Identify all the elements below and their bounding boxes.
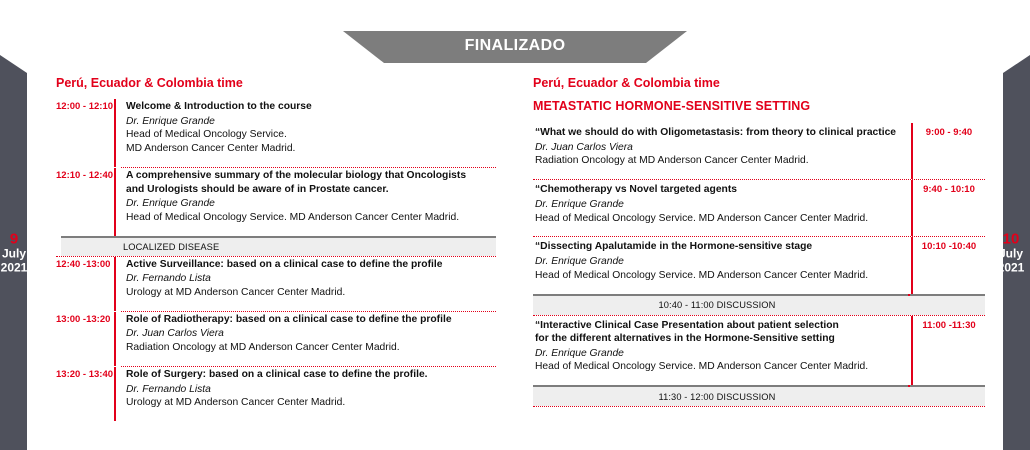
timeline-bar-segment (908, 385, 910, 387)
session-title: “Interactive Clinical Case Presentation … (535, 319, 901, 333)
session-time: 10:10 -10:40 (913, 237, 985, 252)
date-tab-day1-month: July (0, 247, 37, 261)
date-tab-day1-year: 2021 (0, 261, 37, 275)
agenda-row: 12:10 - 12:40 A comprehensive summary of… (56, 168, 496, 236)
date-tab-day1-inner: 9 July 2021 (0, 230, 37, 275)
session-speaker: Dr. Enrique Grande (535, 347, 901, 361)
session-speaker: Dr. Fernando Lista (126, 272, 496, 286)
session-body: A comprehensive summary of the molecular… (116, 168, 496, 236)
session-affiliation: Head of Medical Oncology Service. MD And… (126, 211, 496, 225)
row-divider (533, 406, 985, 407)
session-affiliation: Radiation Oncology at MD Anderson Cancer… (126, 341, 496, 355)
session-affiliation: MD Anderson Cancer Center Madrid. (126, 142, 496, 156)
session-time: 12:10 - 12:40 (56, 168, 114, 181)
discussion-label: 10:40 - 11:00 DISCUSSION (659, 300, 776, 310)
date-tab-day2-month: July (985, 247, 1030, 261)
session-title: Active Surveillance: based on a clinical… (126, 258, 496, 272)
session-speaker: Dr. Enrique Grande (126, 197, 496, 211)
session-title: Role of Radiotherapy: based on a clinica… (126, 313, 496, 327)
date-tab-day1: 9 July 2021 (0, 55, 46, 450)
agenda-row: 12:40 -13:00 Active Surveillance: based … (56, 257, 496, 311)
session-affiliation: Radiation Oncology at MD Anderson Cancer… (535, 154, 901, 168)
agenda-row: 13:00 -13:20 Role of Radiotherapy: based… (56, 312, 496, 366)
section-header-localized-disease: LOCALIZED DISEASE (61, 236, 496, 256)
status-badge-finalizado: FINALIZADO (343, 31, 687, 63)
session-speaker: Dr. Juan Carlos Viera (535, 141, 901, 155)
session-affiliation: Urology at MD Anderson Cancer Center Mad… (126, 396, 496, 410)
discussion-strip: 10:40 - 11:00 DISCUSSION (533, 294, 985, 315)
agenda-row: “What we should do with Oligometastasis:… (533, 123, 985, 179)
session-speaker: Dr. Enrique Grande (535, 198, 901, 212)
session-title: for the different alternatives in the Ho… (535, 332, 901, 346)
status-badge-label: FINALIZADO (465, 37, 566, 55)
agenda-row: “Interactive Clinical Case Presentation … (533, 316, 985, 386)
agenda-column-day2: Perú, Ecuador & Colombia time METASTATIC… (533, 76, 985, 407)
date-tab-day1-day: 9 (0, 230, 37, 247)
session-time: 12:00 - 12:10 (56, 99, 114, 112)
session-affiliation: Urology at MD Anderson Cancer Center Mad… (126, 286, 496, 300)
session-speaker: Dr. Enrique Grande (126, 115, 496, 129)
session-speaker: Dr. Enrique Grande (535, 255, 901, 269)
session-speaker: Dr. Fernando Lista (126, 383, 496, 397)
timezone-header-day2: Perú, Ecuador & Colombia time (533, 76, 985, 90)
date-tab-day2-inner: 10 July 2021 (985, 230, 1030, 275)
timezone-header-day1: Perú, Ecuador & Colombia time (56, 76, 496, 90)
date-tab-day2-year: 2021 (985, 261, 1030, 275)
session-body: Welcome & Introduction to the course Dr.… (116, 99, 496, 167)
discussion-strip: 11:30 - 12:00 DISCUSSION (533, 385, 985, 406)
session-time: 11:00 -11:30 (913, 316, 985, 331)
session-title: “Dissecting Apalutamide in the Hormone-s… (535, 240, 901, 254)
date-tab-day2: 10 July 2021 (978, 55, 1030, 450)
session-body: Role of Surgery: based on a clinical cas… (116, 367, 496, 421)
session-time: 13:20 - 13:40 (56, 367, 114, 380)
session-affiliation: Head of Medical Oncology Service. MD And… (535, 360, 901, 374)
session-time: 13:00 -13:20 (56, 312, 114, 325)
session-title: “What we should do with Oligometastasis:… (535, 126, 901, 140)
session-title: A comprehensive summary of the molecular… (126, 169, 496, 183)
section-header-label: LOCALIZED DISEASE (61, 242, 219, 252)
agenda-row: 13:20 - 13:40 Role of Surgery: based on … (56, 367, 496, 421)
session-body: “Dissecting Apalutamide in the Hormone-s… (533, 237, 911, 293)
section-header-metastatic: METASTATIC HORMONE-SENSITIVE SETTING (533, 99, 985, 113)
session-affiliation: Head of Medical Oncology Service. (126, 128, 496, 142)
timeline-bar-segment (908, 294, 910, 296)
agenda-row: 12:00 - 12:10 Welcome & Introduction to … (56, 99, 496, 167)
session-title: “Chemotherapy vs Novel targeted agents (535, 183, 901, 197)
session-body: “Chemotherapy vs Novel targeted agents D… (533, 180, 911, 236)
session-time: 9:40 - 10:10 (913, 180, 985, 195)
session-body: “What we should do with Oligometastasis:… (533, 123, 911, 179)
session-title: Role of Surgery: based on a clinical cas… (126, 368, 496, 382)
session-title: and Urologists should be aware of in Pro… (126, 183, 496, 197)
session-body: “Interactive Clinical Case Presentation … (533, 316, 911, 386)
session-body: Role of Radiotherapy: based on a clinica… (116, 312, 496, 366)
agenda-row: “Dissecting Apalutamide in the Hormone-s… (533, 237, 985, 293)
session-speaker: Dr. Juan Carlos Viera (126, 327, 496, 341)
session-affiliation: Head of Medical Oncology Service. MD And… (535, 269, 901, 283)
date-tab-day2-day: 10 (985, 230, 1030, 247)
session-title: Welcome & Introduction to the course (126, 100, 496, 114)
session-affiliation: Head of Medical Oncology Service. MD And… (535, 212, 901, 226)
session-time: 12:40 -13:00 (56, 257, 114, 270)
agenda-page: 9 July 2021 10 July 2021 FINALIZADO Perú… (0, 0, 1030, 450)
session-time: 9:00 - 9:40 (913, 123, 985, 138)
agenda-column-day1: Perú, Ecuador & Colombia time 12:00 - 12… (56, 76, 496, 421)
discussion-label: 11:30 - 12:00 DISCUSSION (659, 392, 776, 402)
agenda-row: “Chemotherapy vs Novel targeted agents D… (533, 180, 985, 236)
session-body: Active Surveillance: based on a clinical… (116, 257, 496, 311)
